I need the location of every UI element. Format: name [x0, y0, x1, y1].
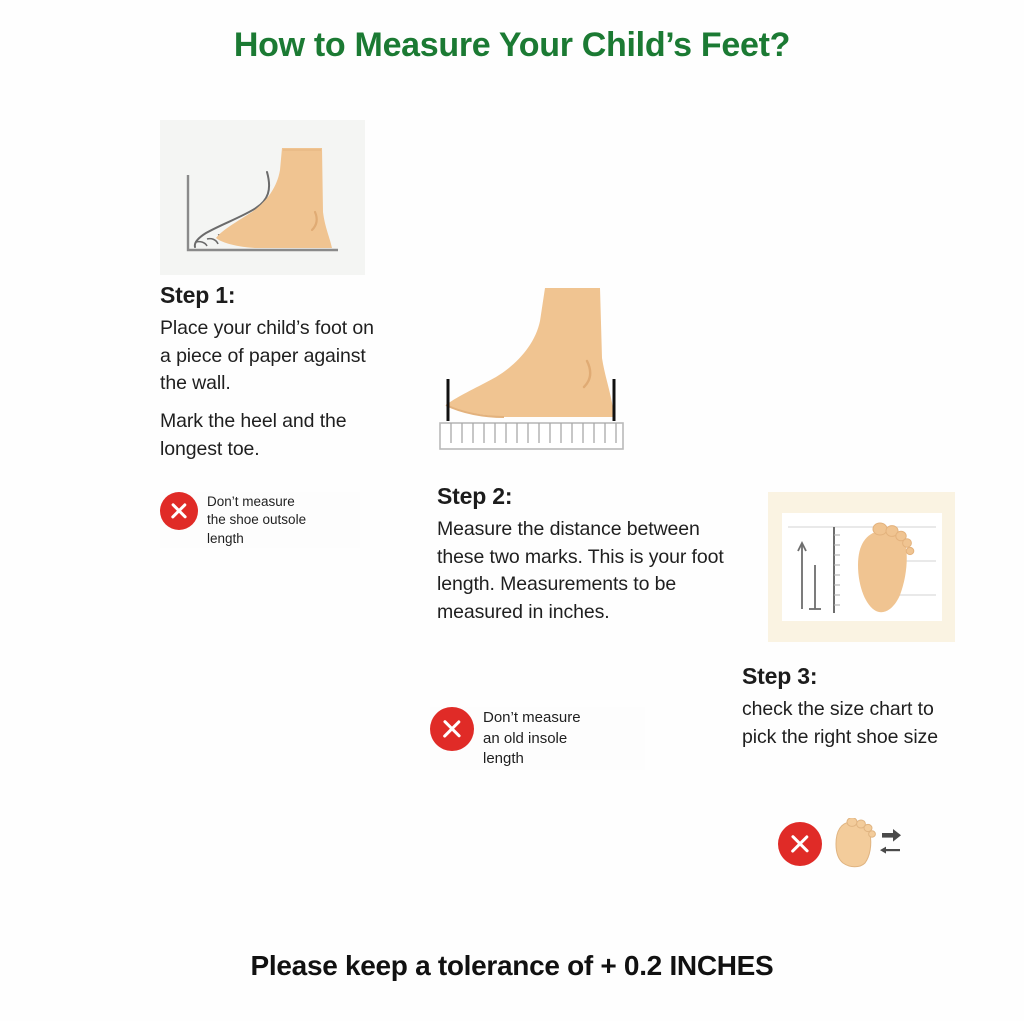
step-2-line-1: Measure the distance between these two m… [437, 516, 737, 627]
ruler [440, 423, 623, 449]
warning-line: length [207, 530, 306, 548]
tolerance-note: Please keep a tolerance of + 0.2 INCHES [0, 950, 1024, 982]
red-x-circle-icon [430, 707, 474, 751]
size-chart-illustration [782, 513, 942, 621]
red-x-circle-icon [160, 492, 198, 530]
step-2-warning-text: Don’t measure an old insole length [483, 707, 581, 770]
foot-shape [216, 148, 332, 248]
warning-line: length [483, 749, 581, 770]
warning-line: Don’t measure [207, 493, 306, 511]
step-3-heading: Step 3: [742, 663, 972, 690]
step-2-warning: Don’t measure an old insole length [430, 707, 645, 770]
foot-sole-with-arrows-icon [830, 818, 904, 870]
measure-arrows [798, 543, 821, 609]
step-3-text-block: Step 3: check the size chart to pick the… [742, 663, 972, 751]
red-x-circle-icon [778, 822, 822, 866]
step-2-figure [432, 283, 642, 458]
step-3-warning [778, 818, 918, 870]
infographic-page: How to Measure Your Child’s Feet? Step 1… [0, 0, 1024, 1021]
foot-on-ruler-illustration [432, 283, 642, 458]
size-chart-card [782, 513, 942, 621]
page-title: How to Measure Your Child’s Feet? [0, 26, 1024, 65]
arrow-right [882, 829, 901, 842]
step-2-heading: Step 2: [437, 483, 737, 510]
step-3-body: check the size chart to pick the right s… [742, 696, 972, 751]
foot-shape [446, 288, 614, 417]
step-1-body: Place your child’s foot on a piece of pa… [160, 315, 375, 463]
step-3-line-1: check the size chart to pick the right s… [742, 696, 972, 751]
step-1-heading: Step 1: [160, 282, 375, 309]
step-3-figure [768, 492, 955, 642]
warning-line: Don’t measure [483, 708, 581, 729]
step-1-line-1: Place your child’s foot on a piece of pa… [160, 315, 375, 398]
arrow-left [880, 847, 900, 854]
foot-against-wall-illustration [160, 120, 365, 275]
step-1-line-2: Mark the heel and the longest toe. [160, 408, 375, 463]
step-2-body: Measure the distance between these two m… [437, 516, 737, 627]
foot-sole-shape [858, 531, 907, 613]
warning-line: an old insole [483, 729, 581, 750]
step-1-warning: Don’t measure the shoe outsole length [160, 492, 360, 548]
step-2-text-block: Step 2: Measure the distance between the… [437, 483, 737, 627]
step-1-text-block: Step 1: Place your child’s foot on a pie… [160, 282, 375, 463]
step-1-figure [160, 120, 365, 275]
step-1-warning-text: Don’t measure the shoe outsole length [207, 492, 306, 548]
warning-line: the shoe outsole [207, 511, 306, 529]
